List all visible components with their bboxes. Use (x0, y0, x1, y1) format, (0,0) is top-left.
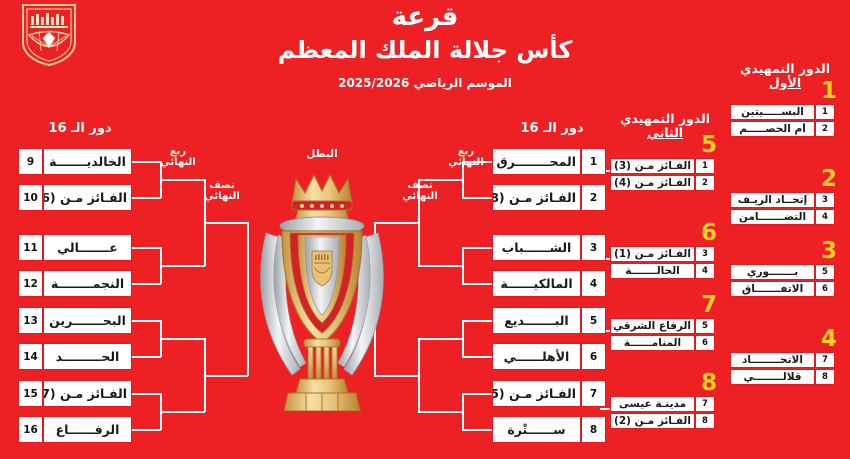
prelim-team-box[interactable]: الاتحــــــــاد (730, 352, 815, 368)
match-row[interactable]: 5البـــــــديع (492, 307, 606, 334)
team-name: المحــــــــرق (493, 154, 580, 169)
team-name: البـــــــديع (493, 313, 580, 328)
bracket-line (462, 283, 492, 285)
prelim-team-name: إتحــاد الريـف (731, 194, 814, 206)
team-name: الحـــــــــد (44, 349, 131, 364)
team-name: عـــــــالي (44, 240, 131, 255)
prelim-seed-number: 2 (815, 121, 835, 137)
qf-right-l2: النهائي (448, 157, 484, 168)
bracket-line (418, 179, 463, 181)
team-box[interactable]: المالكيــــــة (492, 270, 581, 297)
team-name: الفـائز مـن (7) (44, 386, 131, 401)
bracket-line (131, 283, 161, 285)
team-name: الفـائز مـن (6) (44, 190, 131, 205)
match-seed-number: 3 (581, 234, 606, 261)
team-box[interactable]: ســــــتْرة (492, 416, 581, 443)
prelim-seed-number: 8 (695, 413, 715, 429)
match-seed-number: 6 (581, 343, 606, 370)
prelim-team-name: الاتفـــــــاق (731, 283, 814, 295)
prelim-match-group: 3إتحــاد الريـف4التضـــــــامن (730, 192, 835, 225)
match-row[interactable]: 4المالكيــــــة (492, 270, 606, 297)
trophy-illustration (248, 163, 396, 411)
team-name: الفـائز مـن (5) (493, 386, 580, 401)
prelim-seed-number: 4 (815, 209, 835, 225)
prelim-team-name: أم الحصـــــم (731, 123, 814, 135)
team-name: المالكيــــــة (493, 276, 580, 291)
team-name: الأهلــــــي (493, 349, 580, 364)
prelim-team-box[interactable]: البســـــيتين (730, 104, 815, 120)
prelim-team-name: الحالـــــــة (611, 265, 694, 277)
prelim-match-row[interactable]: 4التضـــــــامن (730, 209, 835, 225)
prelim-team-box[interactable]: الفـائز مـن (3) (610, 158, 695, 174)
match-seed-number: 14 (18, 343, 43, 370)
prelim-seed-number: 8 (815, 369, 835, 385)
prelim-round-one-heading-line1: الدور التمهيدي (740, 61, 830, 76)
prelim-round-two-heading-line2: الثاني (647, 125, 683, 140)
match-seed-number: 1 (581, 148, 606, 175)
team-box[interactable]: الفـائز مـن (7) (43, 380, 132, 407)
bracket-line (462, 161, 492, 163)
round-of-16-left-heading: دور الـ 16 (20, 122, 140, 137)
bracket-line (131, 197, 161, 199)
prelim-match-group: 7مدينـة عيسى8الفـائز مـن (2) (610, 396, 715, 429)
prelim-group-index: 7 (701, 294, 717, 317)
prelim-seed-number: 4 (695, 263, 715, 279)
sf-left-l1: نصف (209, 180, 235, 191)
match-seed-number: 4 (581, 270, 606, 297)
prelim-match-row[interactable]: 8الفـائز مـن (2) (610, 413, 715, 429)
match-row[interactable]: 10الفـائز مـن (6) (18, 184, 132, 211)
prelim-team-box[interactable]: أم الحصـــــم (730, 121, 815, 137)
prelim-match-group: 7الاتحــــــــاد8قلالــــــــي (730, 352, 835, 385)
qf-right-l1: ربع (458, 146, 474, 157)
match-row[interactable]: 9الخالديـــــــة (18, 148, 132, 175)
bracket-line (462, 197, 492, 199)
sf-left-l2: النهائي (204, 191, 240, 202)
match-row[interactable]: 3الشــــــباب (492, 234, 606, 261)
match-seed-number: 13 (18, 307, 43, 334)
team-box[interactable]: البـــــــديع (492, 307, 581, 334)
prelim-team-name: الاتحــــــــاد (731, 354, 814, 366)
prelim-group-index: 4 (821, 328, 837, 351)
prelim-seed-number: 1 (815, 104, 835, 120)
bracket-line (418, 338, 463, 340)
prelim-seed-number: 7 (815, 352, 835, 368)
team-box[interactable]: الفـائز مـن (5) (492, 380, 581, 407)
prelim-group-index: 8 (701, 372, 717, 395)
bracket-page: قرعة كأس جلالة الملك المعظم الموسم الريا… (0, 0, 850, 459)
prelim-team-name: الفـائز مـن (2) (611, 415, 694, 427)
bracket-line (131, 320, 161, 322)
match-row[interactable]: 2الفـائز مـن (8) (492, 184, 606, 211)
match-seed-number: 16 (18, 416, 43, 443)
match-row[interactable]: 12النجمــــــــة (18, 270, 132, 297)
prelim-match-row[interactable]: 6الاتفـــــــاق (730, 281, 835, 297)
match-row[interactable]: 1المحــــــــرق (492, 148, 606, 175)
match-seed-number: 7 (581, 380, 606, 407)
team-name: ســــــتْرة (493, 422, 580, 437)
match-seed-number: 10 (18, 184, 43, 211)
team-box[interactable]: الخالديـــــــة (43, 148, 132, 175)
prelim-match-group: 1البســـــيتين2أم الحصـــــم (730, 104, 835, 137)
prelim-group-index: 5 (701, 134, 717, 157)
match-seed-number: 12 (18, 270, 43, 297)
match-seed-number: 9 (18, 148, 43, 175)
page-title: قرعة (0, 4, 850, 31)
prelim-team-name: الرفاع الشرقي (611, 320, 694, 332)
prelim-match-row[interactable]: 4الحالـــــــة (610, 263, 715, 279)
team-box[interactable]: الأهلــــــي (492, 343, 581, 370)
sf-right-l2: النهائي (402, 191, 438, 202)
match-seed-number: 15 (18, 380, 43, 407)
qf-left-l2: النهائي (160, 157, 196, 168)
prelim-match-row[interactable]: 6المنامــــــة (610, 335, 715, 351)
season-label: الموسم الرياضي 2025/2026 (0, 76, 850, 90)
team-box[interactable]: البحـــــــرين (43, 307, 132, 334)
prelim-match-row[interactable]: 7الاتحــــــــاد (730, 352, 835, 368)
prelim-round-one-heading-line2: الأول (769, 75, 801, 90)
bracket-line (462, 320, 492, 322)
prelim-seed-number: 7 (695, 396, 715, 412)
prelim-match-row[interactable]: 8قلالــــــــي (730, 369, 835, 385)
prelim-match-row[interactable]: 5الرفاع الشرقي (610, 318, 715, 334)
team-box[interactable]: الفـائز مـن (6) (43, 184, 132, 211)
prelim-match-row[interactable]: 7مدينـة عيسى (610, 396, 715, 412)
team-name: الشــــــباب (493, 240, 580, 255)
team-box[interactable]: الرفــــــاع (43, 416, 132, 443)
prelim-team-box[interactable]: الفـائز مـن (4) (610, 175, 695, 191)
match-seed-number: 11 (18, 234, 43, 261)
match-row[interactable]: 11عـــــــالي (18, 234, 132, 261)
prelim-seed-number: 3 (815, 192, 835, 208)
bracket-line (131, 356, 161, 358)
prelim-match-row[interactable]: 2الفـائز مـن (4) (610, 175, 715, 191)
match-row[interactable]: 14الحـــــــــد (18, 343, 132, 370)
team-box[interactable]: الشــــــباب (492, 234, 581, 261)
team-box[interactable]: عـــــــالي (43, 234, 132, 261)
prelim-team-box[interactable]: الحالـــــــة (610, 263, 695, 279)
round-of-16-right-heading: دور الـ 16 (492, 122, 612, 137)
prelim-team-name: المنامــــــة (611, 337, 694, 349)
team-box[interactable]: المحــــــــرق (492, 148, 581, 175)
prelim-team-name: قلالــــــــي (731, 371, 814, 383)
match-row[interactable]: 15الفـائز مـن (7) (18, 380, 132, 407)
prelim-group-index: 2 (821, 168, 837, 191)
label-champion: البطل (292, 148, 352, 160)
prelim-team-box[interactable]: قلالــــــــي (730, 369, 815, 385)
team-box[interactable]: الفـائز مـن (8) (492, 184, 581, 211)
prelim-team-box[interactable]: مدينـة عيسى (610, 396, 695, 412)
prelim-team-name: الفـائز مـن (1) (611, 248, 694, 260)
prelim-seed-number: 3 (695, 246, 715, 262)
bracket-line (418, 411, 463, 413)
bracket-line (160, 179, 205, 181)
prelim-team-name: التضـــــــامن (731, 211, 814, 223)
prelim-match-row[interactable]: 3إتحــاد الريـف (730, 192, 835, 208)
bracket-line (462, 356, 492, 358)
prelim-group-index: 3 (821, 240, 837, 263)
team-box[interactable]: الحـــــــــد (43, 343, 132, 370)
bracket-line (160, 338, 205, 340)
bracket-line (160, 265, 205, 267)
prelim-connector-line (600, 408, 610, 410)
prelim-seed-number: 5 (695, 318, 715, 334)
match-row[interactable]: 7الفـائز مـن (5) (492, 380, 606, 407)
prelim-match-row[interactable]: 2أم الحصـــــم (730, 121, 835, 137)
prelim-team-name: البســـــيتين (731, 106, 814, 118)
match-seed-number: 2 (581, 184, 606, 211)
bracket-line (204, 375, 248, 377)
bracket-line (462, 393, 492, 395)
prelim-match-row[interactable]: 3الفـائز مـن (1) (610, 246, 715, 262)
prelim-seed-number: 2 (695, 175, 715, 191)
team-name: الرفــــــاع (44, 422, 131, 437)
prelim-team-box[interactable]: الفـائز مـن (1) (610, 246, 695, 262)
team-box[interactable]: النجمــــــــة (43, 270, 132, 297)
prelim-team-box[interactable]: الرفاع الشرقي (610, 318, 695, 334)
prelim-seed-number: 6 (695, 335, 715, 351)
prelim-team-box[interactable]: المنامــــــة (610, 335, 695, 351)
prelim-seed-number: 5 (815, 264, 835, 280)
qf-left-l1: ربع (170, 146, 186, 157)
page-subtitle: كأس جلالة الملك المعظم (0, 38, 850, 63)
prelim-match-group: 5الرفاع الشرقي6المنامــــــة (610, 318, 715, 351)
team-name: النجمــــــــة (44, 276, 131, 291)
prelim-team-box[interactable]: بـــــــوري (730, 264, 815, 280)
prelim-team-box[interactable]: التضـــــــامن (730, 209, 815, 225)
prelim-team-box[interactable]: الاتفـــــــاق (730, 281, 815, 297)
prelim-team-name: مدينـة عيسى (611, 398, 694, 410)
prelim-seed-number: 6 (815, 281, 835, 297)
prelim-group-index: 6 (701, 222, 717, 245)
bracket-line (131, 393, 161, 395)
match-row[interactable]: 16الرفــــــاع (18, 416, 132, 443)
bracket-line (418, 265, 463, 267)
prelim-match-row[interactable]: 5بـــــــوري (730, 264, 835, 280)
match-row[interactable]: 8ســــــتْرة (492, 416, 606, 443)
prelim-match-group: 3الفـائز مـن (1)4الحالـــــــة (610, 246, 715, 279)
prelim-team-box[interactable]: الفـائز مـن (2) (610, 413, 695, 429)
match-row[interactable]: 6الأهلــــــي (492, 343, 606, 370)
bracket-line (462, 247, 492, 249)
match-seed-number: 8 (581, 416, 606, 443)
match-seed-number: 5 (581, 307, 606, 334)
sf-right-l1: نصف (407, 180, 433, 191)
team-name: الخالديـــــــة (44, 154, 131, 169)
prelim-team-box[interactable]: إتحــاد الريـف (730, 192, 815, 208)
label-quarter-final-right: ربع النهائي (440, 146, 492, 168)
bracket-line (204, 222, 248, 224)
prelim-match-group: 5بـــــــوري6الاتفـــــــاق (730, 264, 835, 297)
prelim-match-row[interactable]: 1البســـــيتين (730, 104, 835, 120)
prelim-seed-number: 1 (695, 158, 715, 174)
prelim-round-two-heading-line1: الدور التمهيدي (620, 111, 710, 126)
page-header: قرعة كأس جلالة الملك المعظم الموسم الريا… (0, 0, 850, 112)
team-name: البحـــــــرين (44, 313, 131, 328)
federation-shield-icon (19, 2, 79, 66)
bracket-line (131, 429, 161, 431)
match-row[interactable]: 13البحـــــــرين (18, 307, 132, 334)
bracket-line (160, 411, 205, 413)
prelim-group-index: 1 (821, 80, 837, 103)
bracket-line (131, 247, 161, 249)
label-semi-final-right: نصف النهائي (394, 180, 446, 202)
team-name: الفـائز مـن (8) (493, 190, 580, 205)
prelim-match-row[interactable]: 1الفـائز مـن (3) (610, 158, 715, 174)
prelim-match-group: 1الفـائز مـن (3)2الفـائز مـن (4) (610, 158, 715, 191)
prelim-team-name: بـــــــوري (731, 266, 814, 278)
prelim-team-name: الفـائز مـن (4) (611, 177, 694, 189)
bracket-line (131, 161, 161, 163)
bracket-line (462, 429, 492, 431)
prelim-team-name: الفـائز مـن (3) (611, 160, 694, 172)
